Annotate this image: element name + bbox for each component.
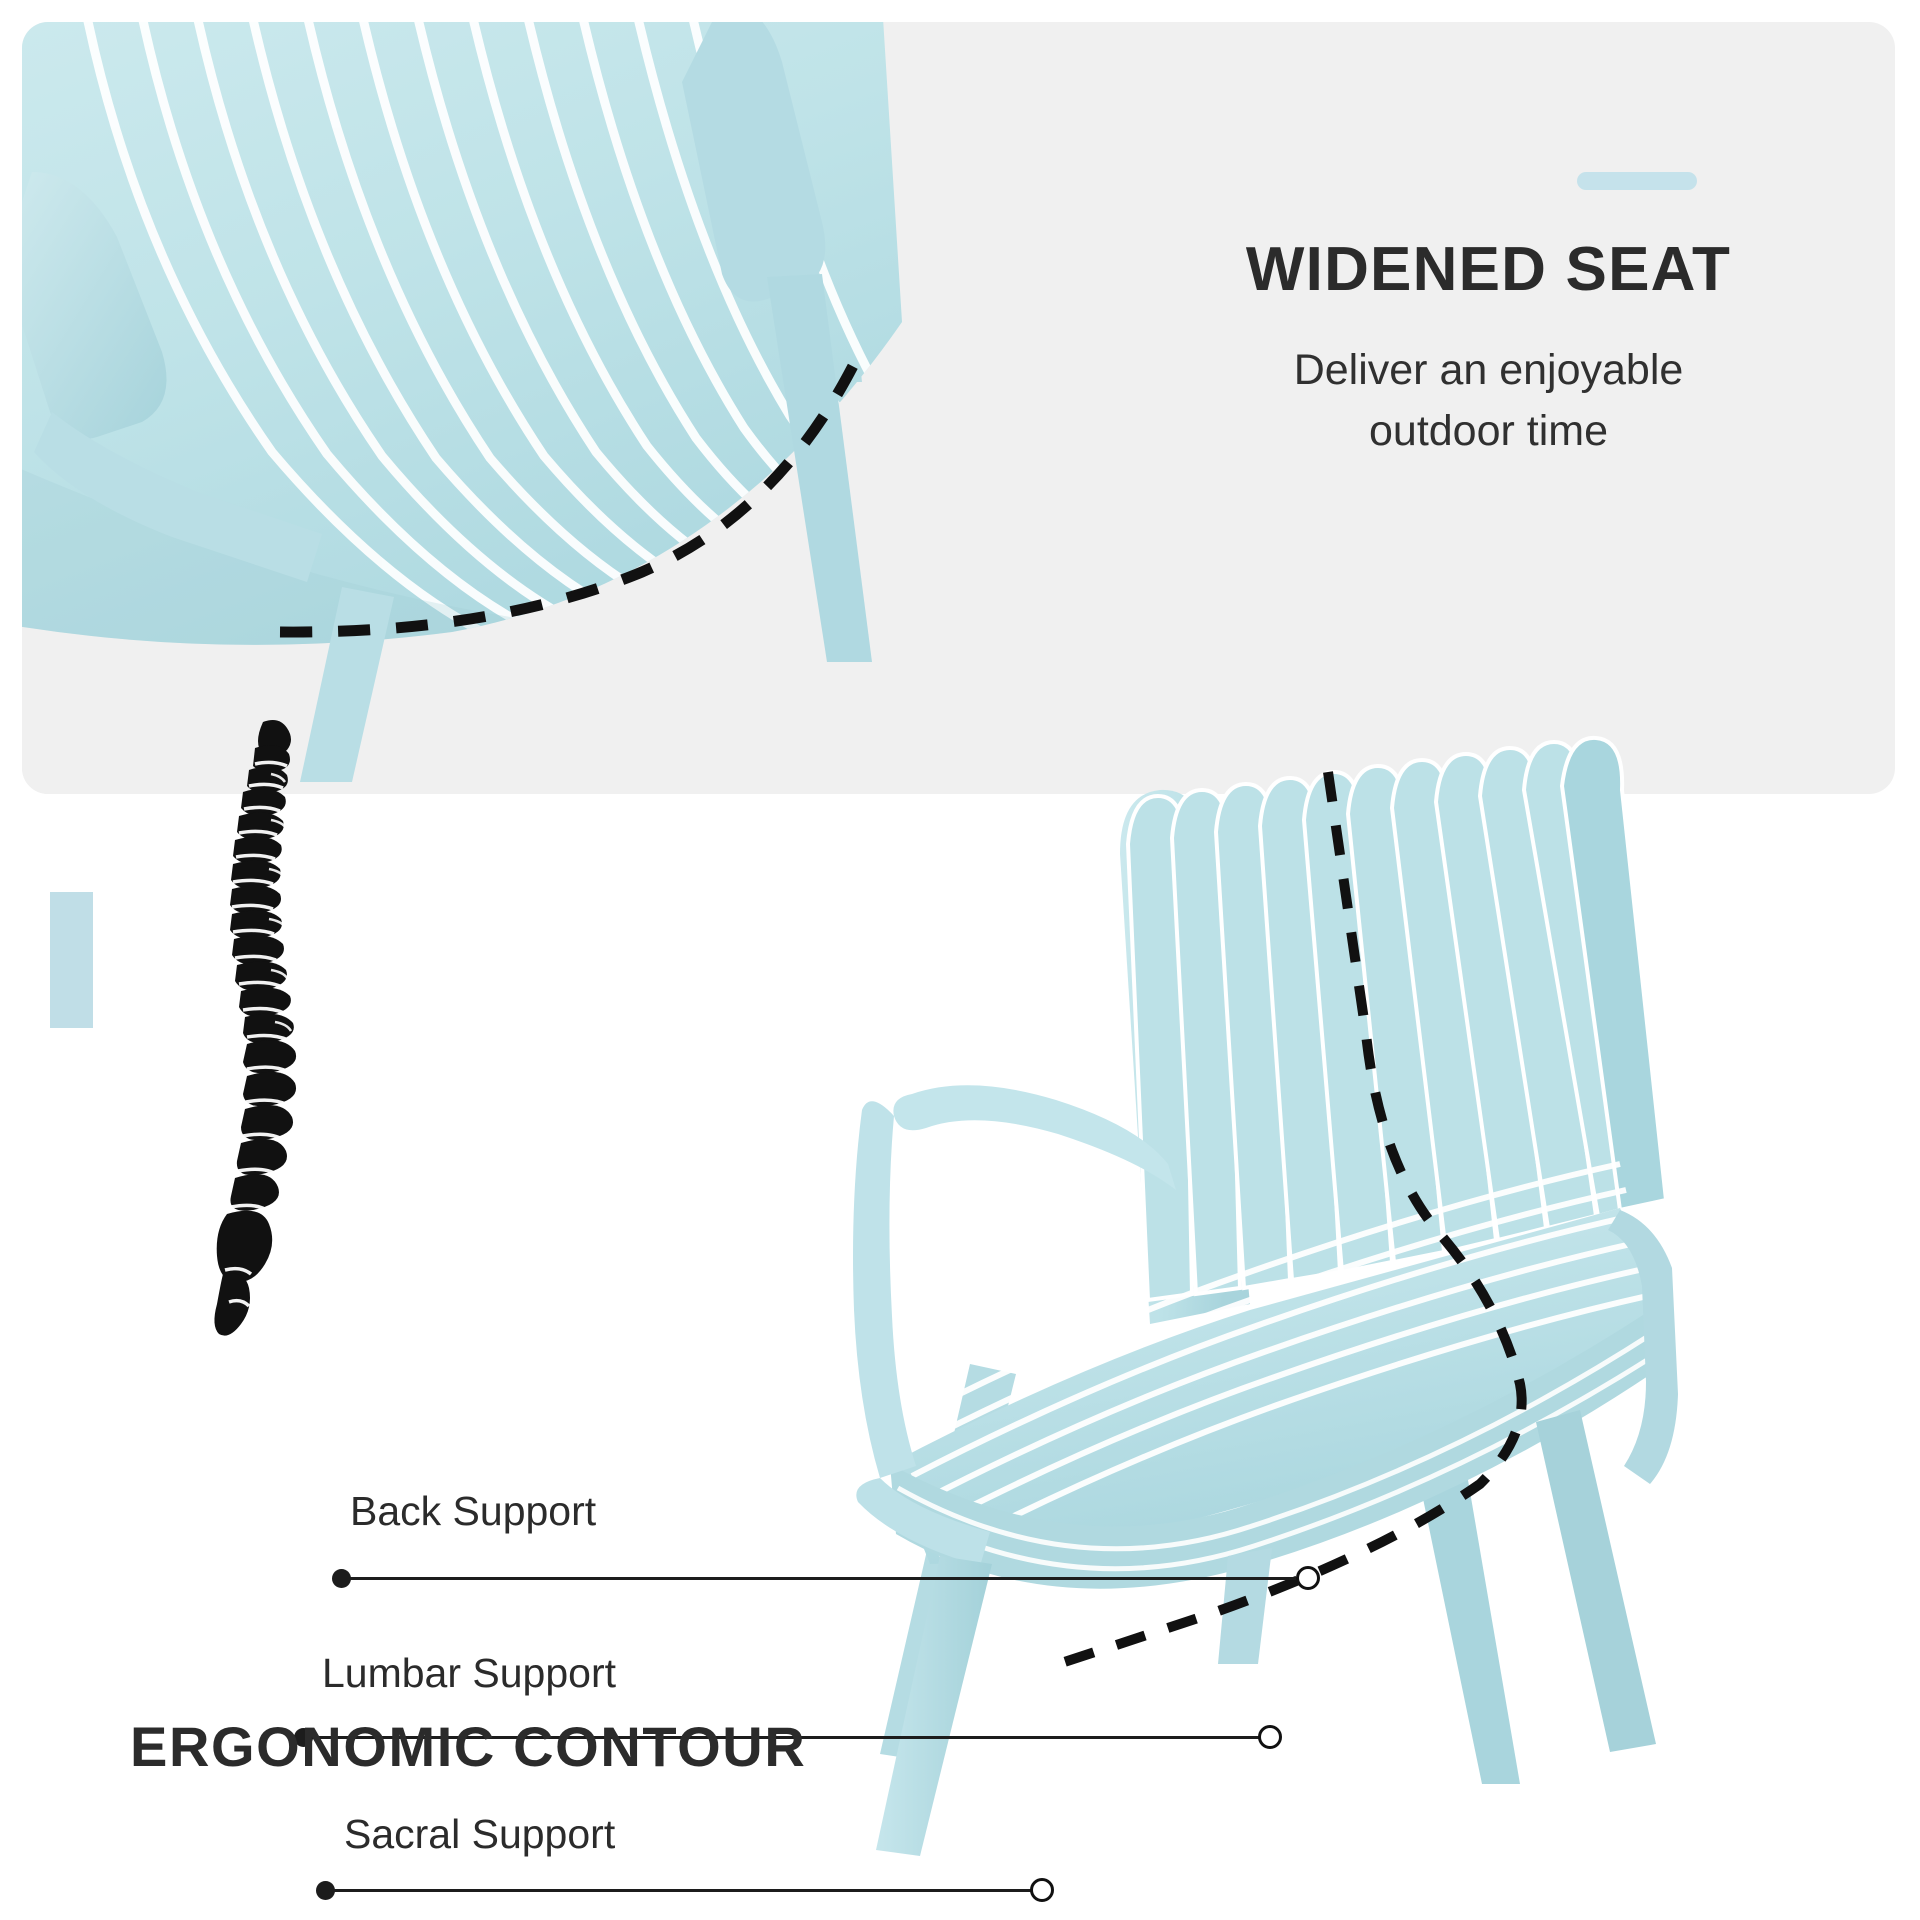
leader-line-back-support: [341, 1577, 1316, 1580]
callout-label-back-support: Back Support: [350, 1488, 596, 1535]
page-title: WIDENED SEAT: [1082, 237, 1895, 302]
callout-endpoint-sacral-support: [1030, 1878, 1054, 1902]
callout-endpoint-lumbar-support: [1258, 1725, 1282, 1749]
spine-icon: [185, 714, 375, 1354]
ergonomic-contour-section: Back Support Lumbar Support Sacral Suppo…: [0, 794, 1920, 1920]
callout-label-sacral-support: Sacral Support: [344, 1811, 615, 1858]
callout-label-lumbar-support: Lumbar Support: [322, 1650, 616, 1697]
subtitle-line-1: Deliver an enjoyable: [1142, 340, 1835, 401]
callout-endpoint-back-support: [1296, 1566, 1320, 1590]
subtitle-line-2: outdoor time: [1142, 401, 1835, 462]
page-subtitle: Deliver an enjoyable outdoor time: [1142, 340, 1835, 462]
chair-photo: [820, 604, 1680, 1894]
side-accent-bar-icon: [50, 892, 93, 1028]
section-title: ERGONOMIC CONTOUR: [130, 1714, 806, 1779]
leader-line-sacral-support: [325, 1889, 1050, 1892]
accent-pill-icon: [1577, 172, 1697, 190]
